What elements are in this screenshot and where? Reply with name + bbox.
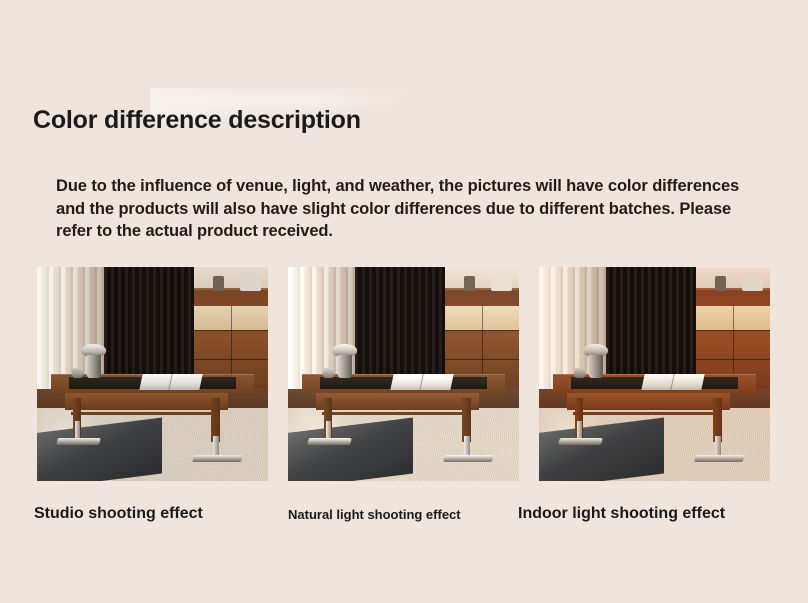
slatted-wall-panel xyxy=(355,267,452,391)
table-chrome-foot xyxy=(307,438,352,445)
table-chrome-foot xyxy=(558,438,603,445)
caption-natural-light: Natural light shooting effect xyxy=(288,507,461,522)
open-book xyxy=(390,374,453,390)
cup xyxy=(574,368,586,379)
table-stretcher xyxy=(71,412,217,416)
product-photo-studio xyxy=(37,267,268,481)
interior-scene xyxy=(539,267,770,481)
product-photo-natural-light xyxy=(288,267,519,481)
table-chrome-foot xyxy=(694,455,745,462)
open-book xyxy=(139,374,202,390)
slatted-wall-panel xyxy=(606,267,703,391)
decor-vase xyxy=(715,276,727,291)
table-stretcher xyxy=(573,412,719,416)
photo-captions: Studio shooting effect Natural light sho… xyxy=(0,505,808,537)
color-difference-disclaimer: Due to the influence of venue, light, an… xyxy=(56,175,746,243)
decor-speaker xyxy=(491,278,512,291)
table-drawer-apron xyxy=(65,393,228,410)
product-photo-indoor-light xyxy=(539,267,770,481)
cup xyxy=(72,368,84,379)
page-title: Color difference description xyxy=(33,106,361,135)
table-lamp-base xyxy=(87,355,101,379)
product-photo-gallery xyxy=(37,267,771,481)
decor-vase xyxy=(464,276,476,291)
decor-speaker xyxy=(742,278,763,291)
interior-scene xyxy=(37,267,268,481)
table-drawer-apron xyxy=(316,393,479,410)
slatted-wall-panel xyxy=(104,267,201,391)
decor-vase xyxy=(213,276,225,291)
open-book xyxy=(641,374,704,390)
cup xyxy=(323,368,335,379)
interior-scene xyxy=(288,267,519,481)
caption-indoor-light: Indoor light shooting effect xyxy=(518,505,725,523)
caption-studio: Studio shooting effect xyxy=(34,505,203,523)
decor-speaker xyxy=(240,278,261,291)
table-drawer-apron xyxy=(567,393,730,410)
table-chrome-foot xyxy=(192,455,243,462)
table-lamp-base xyxy=(338,355,352,379)
table-lamp-base xyxy=(589,355,603,379)
table-chrome-foot xyxy=(443,455,494,462)
table-stretcher xyxy=(322,412,468,416)
table-chrome-foot xyxy=(56,438,101,445)
